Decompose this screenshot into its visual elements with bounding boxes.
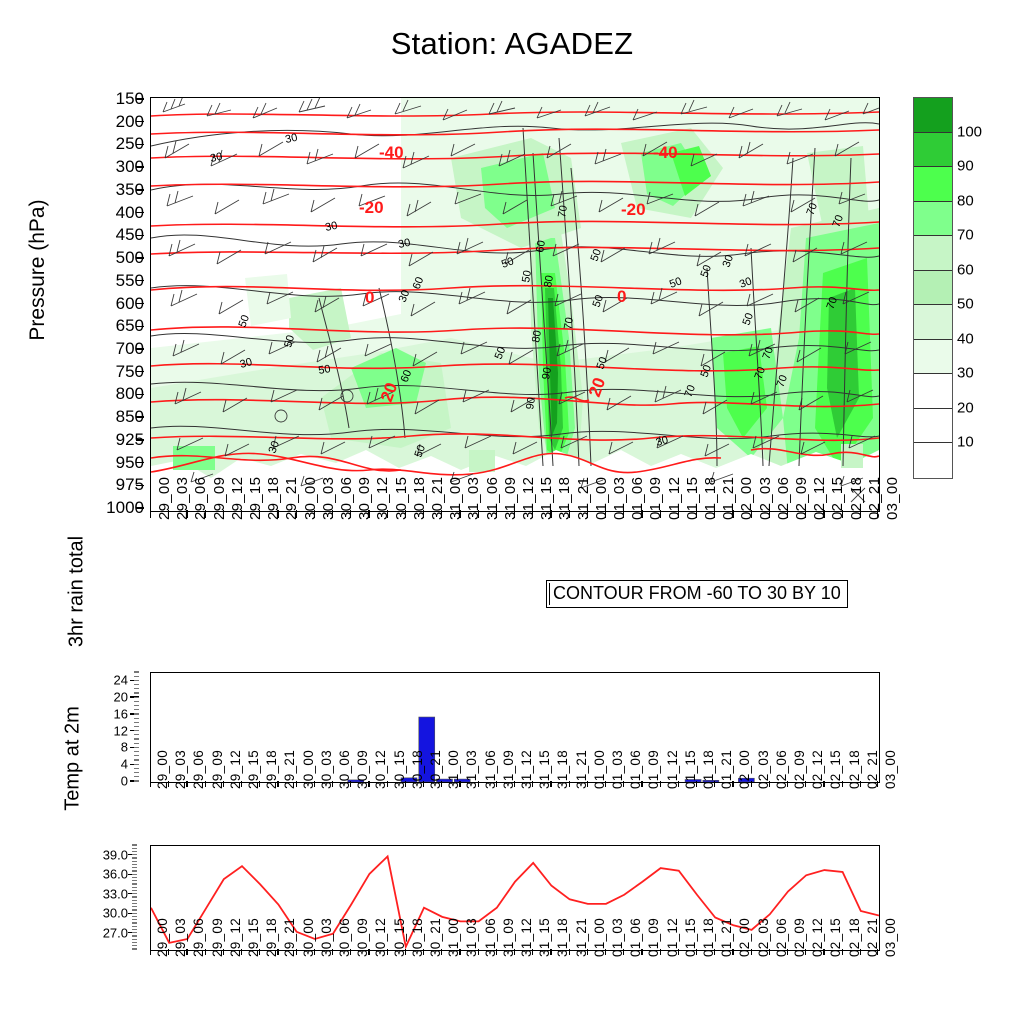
time-tick [423, 949, 424, 955]
time-tick-label: 29_06 [192, 477, 209, 520]
rain-minor-tick [134, 755, 139, 756]
time-tick [769, 781, 770, 787]
time-tick [296, 949, 297, 955]
temp-minor-tick [132, 896, 137, 897]
time-tick [496, 781, 497, 787]
time-tick-label: 30_15 [393, 477, 410, 520]
time-tick [550, 781, 551, 787]
time-tick [441, 781, 442, 787]
time-tick [660, 510, 661, 518]
temp-minor-tick [132, 890, 137, 891]
time-tick [587, 781, 588, 787]
pressure-tick [136, 144, 144, 145]
time-tick [514, 510, 515, 518]
contour-caption: CONTOUR FROM -60 TO 30 BY 10 [546, 580, 848, 608]
colorbar-tick-label: 90 [957, 158, 974, 175]
time-tick [314, 781, 315, 787]
colorbar-cell[interactable] [914, 409, 952, 444]
colorbar-cell[interactable] [914, 133, 952, 168]
temp-minor-tick [132, 861, 137, 862]
time-tick-label: 29_15 [247, 477, 264, 520]
temp-minor-tick [132, 906, 137, 907]
colorbar-cell[interactable] [914, 305, 952, 340]
temp-minor-tick [132, 877, 137, 878]
colorbar-cell[interactable] [914, 340, 952, 375]
temp-minor-tick [132, 848, 137, 849]
colorbar-tick-label: 30 [957, 365, 974, 382]
temp-minor-tick [132, 880, 137, 881]
colorbar-tick-label: 70 [957, 227, 974, 244]
rain-minor-tick [134, 697, 139, 698]
time-tick-label: 02_21 [866, 477, 883, 520]
svg-text:-20: -20 [359, 198, 384, 217]
rain-minor-tick [134, 772, 139, 773]
temp-tick-label: 30.0 [103, 906, 128, 921]
time-tick-label: 31_00 [447, 477, 464, 520]
rain-minor-tick [134, 680, 139, 681]
rain-tick-label: 8 [121, 740, 128, 755]
rain-minor-tick [134, 688, 139, 689]
time-tick [860, 781, 861, 787]
pressure-tick [136, 485, 144, 486]
time-tick-label: 29_03 [174, 477, 191, 520]
time-tick [496, 510, 497, 518]
time-tick [478, 781, 479, 787]
main-y-axis-labels: 1502002503003504004505005506006507007508… [60, 97, 144, 510]
svg-text:-40: -40 [653, 143, 678, 162]
pressure-tick [136, 166, 144, 167]
time-tick [241, 949, 242, 955]
time-tick [368, 510, 369, 518]
temp-minor-tick [132, 942, 137, 943]
time-tick [387, 949, 388, 955]
colorbar-tick-label: 100 [957, 123, 982, 140]
pressure-tick [136, 189, 144, 190]
colorbar-cell[interactable] [914, 443, 952, 478]
time-tick-label: 02_18 [848, 477, 865, 520]
colorbar-tick-label: 20 [957, 399, 974, 416]
time-tick [769, 949, 770, 955]
temp-minor-tick [132, 883, 137, 884]
pressure-tick [136, 462, 144, 463]
rain-minor-tick [134, 780, 139, 781]
colorbar-cell[interactable] [914, 236, 952, 271]
pressure-tick [136, 507, 144, 508]
time-tick [678, 949, 679, 955]
time-tick-label: 29_12 [229, 477, 246, 520]
time-tick-label: 31_15 [538, 477, 555, 520]
rain-minor-tick [134, 676, 139, 677]
time-tick [259, 510, 260, 518]
svg-text:30: 30 [209, 151, 223, 165]
rain-y-axis-labels: 04812162024 [100, 672, 142, 781]
temp-minor-tick [132, 874, 137, 875]
colorbar-tick-label: 10 [957, 434, 974, 451]
rain-minor-tick [134, 776, 139, 777]
time-tick [569, 510, 570, 518]
pressure-tick [136, 394, 144, 395]
time-tick-label: 31_18 [556, 477, 573, 520]
time-tick-label: 02_12 [811, 477, 828, 520]
time-tick [241, 510, 242, 518]
pressure-tick [136, 235, 144, 236]
main-y-axis-title: Pressure (hPa) [26, 140, 50, 400]
svg-text:80: 80 [542, 274, 556, 288]
time-tick [387, 510, 388, 518]
time-tick-label: 31_06 [484, 477, 501, 520]
pressure-tick [136, 98, 144, 99]
time-tick [150, 781, 151, 787]
time-tick [587, 510, 588, 518]
rain-minor-tick [134, 768, 139, 769]
time-tick-label: 02_00 [738, 477, 755, 520]
time-tick [168, 949, 169, 955]
time-tick [478, 949, 479, 955]
pressure-tick [136, 348, 144, 349]
time-tick [277, 949, 278, 955]
time-tick-label: 02_09 [793, 477, 810, 520]
time-tick-label: 01_15 [684, 477, 701, 520]
relative-humidity-colorbar[interactable] [913, 97, 953, 479]
time-tick [532, 510, 533, 518]
colorbar-tick-label: 60 [957, 261, 974, 278]
temp-minor-tick [132, 844, 137, 845]
time-tick [314, 510, 315, 518]
time-tick [532, 781, 533, 787]
time-tick [696, 781, 697, 787]
rain-minor-tick [134, 730, 139, 731]
time-tick [277, 510, 278, 518]
temp-minor-tick [132, 893, 137, 894]
rain-tick-label: 4 [121, 757, 128, 772]
time-tick [787, 949, 788, 955]
svg-text:90: 90 [524, 396, 538, 410]
time-tick [787, 781, 788, 787]
rain-minor-tick [134, 764, 139, 765]
pressure-tick [136, 326, 144, 327]
time-tick [805, 949, 806, 955]
temp-minor-tick [132, 913, 137, 914]
rain-tick-label: 20 [114, 690, 128, 705]
time-tick [387, 781, 388, 787]
svg-text:80: 80 [530, 329, 544, 343]
svg-text:70: 70 [562, 316, 576, 330]
pressure-tick [136, 257, 144, 258]
time-tick [860, 949, 861, 955]
time-tick-label: 01_18 [702, 477, 719, 520]
time-tick [696, 510, 697, 518]
time-tick-label: 01_21 [720, 477, 737, 520]
time-tick [751, 781, 752, 787]
temp-minor-tick [132, 909, 137, 910]
colorbar-cell[interactable] [914, 271, 952, 306]
rain-x-axis: 29_0029_0329_0629_0929_1229_1529_1829_21… [150, 781, 878, 845]
colorbar-tick-label: 40 [957, 330, 974, 347]
time-tick [150, 510, 151, 518]
time-tick [168, 781, 169, 787]
sounding-contour-plot[interactable]: 30 30 30 30 30 50 50 30 60 50 60 50 80 9… [150, 97, 880, 512]
time-tick-label: 02_15 [829, 477, 846, 520]
time-tick [350, 949, 351, 955]
time-tick [441, 949, 442, 955]
temp-tick-label: 36.0 [103, 867, 128, 882]
time-tick-label: 03_00 [883, 918, 898, 957]
time-tick [714, 510, 715, 518]
time-tick [641, 781, 642, 787]
pressure-tick [136, 121, 144, 122]
svg-text:30: 30 [284, 132, 298, 146]
temp-y-axis-labels: 27.030.033.036.039.0 [96, 845, 142, 949]
temp-tick-label: 27.0 [103, 925, 128, 940]
temp-minor-tick [132, 929, 137, 930]
temp-minor-tick [132, 935, 137, 936]
rain-minor-tick [134, 722, 139, 723]
time-tick [805, 781, 806, 787]
temp-minor-tick [132, 922, 137, 923]
temp-minor-tick [132, 870, 137, 871]
time-tick-label: 30_00 [302, 477, 319, 520]
time-tick [805, 510, 806, 518]
time-tick [223, 781, 224, 787]
temp-minor-tick [132, 919, 137, 920]
time-tick [714, 781, 715, 787]
svg-text:0: 0 [365, 288, 374, 307]
time-tick [459, 510, 460, 518]
time-tick-label: 30_03 [320, 477, 337, 520]
time-tick-label: 31_09 [502, 477, 519, 520]
pressure-tick [136, 439, 144, 440]
time-tick [186, 781, 187, 787]
temp-minor-tick [132, 932, 137, 933]
time-tick [223, 949, 224, 955]
temp-minor-tick [132, 887, 137, 888]
colorbar-cell[interactable] [914, 98, 952, 133]
rain-minor-tick [134, 709, 139, 710]
time-tick [186, 949, 187, 955]
time-tick [569, 781, 570, 787]
time-tick [842, 510, 843, 518]
time-tick [877, 510, 878, 518]
time-tick [423, 781, 424, 787]
time-tick [823, 949, 824, 955]
temp-minor-tick [132, 864, 137, 865]
time-tick [459, 949, 460, 955]
svg-text:0: 0 [617, 287, 626, 306]
time-tick [205, 781, 206, 787]
temp-minor-tick [132, 900, 137, 901]
time-tick [405, 781, 406, 787]
time-tick [678, 781, 679, 787]
temp-tick-label: 39.0 [103, 847, 128, 862]
svg-text:30: 30 [397, 237, 411, 251]
temp-minor-tick [132, 854, 137, 855]
pressure-tick [136, 212, 144, 213]
rain-minor-tick [134, 671, 139, 672]
time-tick [459, 781, 460, 787]
time-tick [350, 781, 351, 787]
time-tick [296, 510, 297, 518]
time-tick-label: 29_21 [283, 477, 300, 520]
rain-minor-tick [134, 751, 139, 752]
colorbar-cell[interactable] [914, 167, 952, 202]
time-tick [259, 949, 260, 955]
time-tick [277, 781, 278, 787]
time-tick [423, 510, 424, 518]
time-tick [332, 510, 333, 518]
time-tick [732, 949, 733, 955]
time-tick-label: 02_06 [775, 477, 792, 520]
rain-minor-tick [134, 713, 139, 714]
time-tick [860, 510, 861, 518]
rain-tick-label: 16 [114, 706, 128, 721]
time-tick [877, 949, 878, 955]
temp-minor-tick [132, 939, 137, 940]
time-tick-label: 30_12 [374, 477, 391, 520]
rain-minor-tick [134, 726, 139, 727]
colorbar-cell[interactable] [914, 202, 952, 237]
time-tick-label: 30_06 [338, 477, 355, 520]
time-tick-label: 31_03 [465, 477, 482, 520]
time-tick [496, 949, 497, 955]
page-title: Station: AGADEZ [0, 26, 1024, 62]
rain-minor-tick [134, 684, 139, 685]
time-tick [823, 510, 824, 518]
time-tick-label: 01_12 [666, 477, 683, 520]
time-tick [478, 510, 479, 518]
time-tick [605, 510, 606, 518]
time-tick [605, 949, 606, 955]
time-tick [877, 781, 878, 787]
time-tick [350, 510, 351, 518]
time-tick [660, 949, 661, 955]
time-tick-label: 01_09 [647, 477, 664, 520]
time-tick [842, 949, 843, 955]
temp-minor-tick [132, 857, 137, 858]
rain-minor-tick [134, 692, 139, 693]
svg-text:-20: -20 [621, 200, 646, 219]
temp-minor-tick [132, 945, 137, 946]
temp-minor-tick [132, 851, 137, 852]
time-tick [332, 781, 333, 787]
time-tick-label: 01_06 [629, 477, 646, 520]
time-tick [314, 949, 315, 955]
rain-tick-label: 12 [114, 723, 128, 738]
time-tick-label: 01_00 [593, 477, 610, 520]
time-tick [623, 949, 624, 955]
time-tick [205, 510, 206, 518]
rain-minor-tick [134, 701, 139, 702]
contour-field: 30 30 30 30 30 50 50 30 60 50 60 50 80 9… [151, 98, 879, 511]
time-tick [186, 510, 187, 518]
temp-y-axis-title: Temp at 2m [62, 639, 85, 879]
time-tick [641, 510, 642, 518]
pressure-tick [136, 280, 144, 281]
time-tick-label: 30_21 [429, 477, 446, 520]
temp-tick-label: 33.0 [103, 886, 128, 901]
svg-text:70: 70 [556, 204, 570, 218]
pressure-tick [136, 371, 144, 372]
temp-minor-tick [132, 948, 137, 949]
colorbar-cell[interactable] [914, 374, 952, 409]
time-tick-label: 29_00 [156, 477, 173, 520]
time-tick [587, 949, 588, 955]
time-tick [823, 781, 824, 787]
temp-minor-tick [132, 903, 137, 904]
rain-minor-tick [134, 705, 139, 706]
rain-minor-tick [134, 743, 139, 744]
time-tick [641, 949, 642, 955]
time-tick [678, 510, 679, 518]
time-tick-label: 01_03 [611, 477, 628, 520]
rain-minor-tick [134, 718, 139, 719]
time-tick [296, 781, 297, 787]
pressure-tick [136, 416, 144, 417]
time-tick-label: 02_03 [757, 477, 774, 520]
time-tick [623, 510, 624, 518]
time-tick [751, 949, 752, 955]
time-tick [550, 510, 551, 518]
svg-text:-40: -40 [379, 143, 404, 162]
time-tick [696, 949, 697, 955]
temp-x-axis: 29_0029_0329_0629_0929_1229_1529_1829_21… [150, 949, 878, 1013]
time-tick-label: 29_09 [211, 477, 228, 520]
rain-minor-tick [134, 759, 139, 760]
time-tick [168, 510, 169, 518]
svg-text:50: 50 [520, 269, 534, 283]
time-tick [150, 949, 151, 955]
time-tick-label: 03_00 [884, 477, 901, 520]
time-tick-label: 30_09 [356, 477, 373, 520]
rain-minor-tick [134, 734, 139, 735]
svg-text:90: 90 [540, 366, 554, 380]
rain-tick-label: 24 [114, 673, 128, 688]
time-tick [514, 781, 515, 787]
time-tick-label: 29_18 [265, 477, 282, 520]
time-tick [769, 510, 770, 518]
svg-text:30: 30 [324, 220, 338, 234]
time-tick [751, 510, 752, 518]
rain-tick-label: 0 [121, 774, 128, 789]
time-tick [332, 949, 333, 955]
time-tick [605, 781, 606, 787]
temp-minor-tick [132, 926, 137, 927]
time-tick [660, 781, 661, 787]
time-tick [714, 949, 715, 955]
time-tick [623, 781, 624, 787]
time-tick [532, 949, 533, 955]
time-tick [259, 781, 260, 787]
pressure-tick [136, 303, 144, 304]
time-tick [241, 781, 242, 787]
time-tick [787, 510, 788, 518]
time-tick-label: 31_21 [575, 477, 592, 520]
time-tick [514, 949, 515, 955]
time-tick [223, 510, 224, 518]
colorbar-tick-label: 50 [957, 296, 974, 313]
time-tick-label: 30_18 [411, 477, 428, 520]
time-tick [732, 510, 733, 518]
time-tick [368, 949, 369, 955]
main-x-axis: 29_0029_0329_0629_0929_1229_1529_1829_21… [150, 510, 878, 580]
time-tick [569, 949, 570, 955]
time-tick [842, 781, 843, 787]
time-tick-label: 03_00 [883, 750, 898, 789]
rain-minor-tick [134, 738, 139, 739]
time-tick [732, 781, 733, 787]
time-tick [405, 510, 406, 518]
time-tick [205, 949, 206, 955]
time-tick [550, 949, 551, 955]
